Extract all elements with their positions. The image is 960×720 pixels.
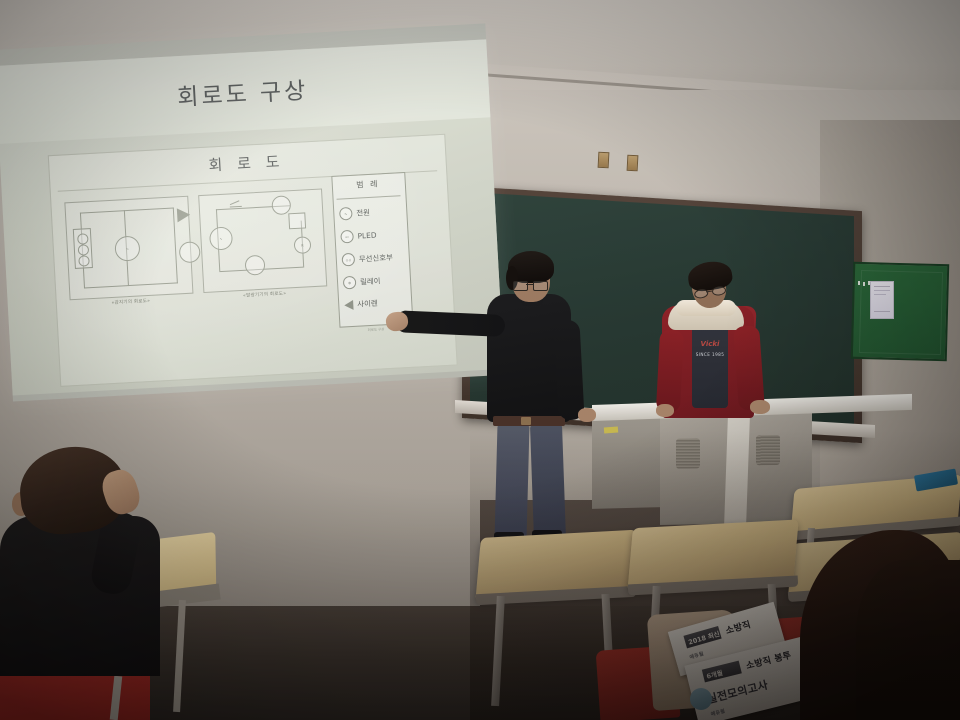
circuit-diagram-right: ∿ R	[198, 188, 327, 293]
wireless-icon: ((·))	[342, 253, 356, 267]
presenter-left-leg-left	[494, 424, 529, 541]
legend-label-wireless: 무선신호부	[359, 252, 394, 265]
presenter-left-leg-right	[530, 423, 566, 540]
legend-label-relay: 릴레이	[360, 275, 381, 287]
legend-label-siren: 사이렌	[357, 298, 378, 310]
booklet-title: 소방직 봉투	[744, 648, 792, 672]
booklet-subtitle: 실전모의고사	[705, 677, 770, 708]
circuit-diagram-left: ∿	[64, 196, 193, 301]
projected-slide: 회로도 구상 회 로 도 ∿ «감지기의 회로도»	[0, 39, 504, 395]
tee-graphic-main: Vicki	[694, 340, 726, 348]
water-bottle	[690, 688, 712, 710]
podium-left-cabinet	[592, 411, 662, 509]
booklet-brand: 에듀윌	[710, 707, 726, 717]
presenter-left-arm-right	[553, 319, 584, 420]
booklet-brand: 에듀윌	[689, 650, 705, 661]
speaker-grille-left	[676, 438, 700, 468]
legend-item-relay: ⊗ 릴레이	[343, 274, 381, 289]
presenter-left-belt-buckle	[521, 417, 531, 425]
board-pins	[858, 281, 870, 285]
plaque-left	[598, 152, 610, 169]
legend-label-pled: PLED	[357, 231, 376, 241]
projection-screen-area: 회로도 구상 회 로 도 ∿ «감지기의 회로도»	[0, 23, 505, 409]
presenter-left-hand-right	[578, 408, 596, 422]
tee-graphic-sub: SINCE 1985	[694, 352, 726, 357]
podium-center-panel	[724, 418, 750, 524]
ac-source-icon: ∿	[339, 207, 353, 221]
legend-label-power: 전원	[356, 207, 370, 219]
legend-item-siren: 사이렌	[344, 298, 378, 311]
speaker-grille-right	[756, 435, 780, 465]
booklet-year: 2018 최신	[687, 628, 721, 647]
legend-item-power: ∿ 전원	[339, 206, 370, 221]
presenter-right-hand-right	[750, 400, 770, 414]
classroom-presentation-photo: 회로도 구상 회 로 도 ∿ «감지기의 회로도»	[0, 0, 960, 720]
booklet-title: 소방직	[724, 617, 752, 637]
siren-icon	[344, 299, 354, 309]
slide-footnote: 회로도 구상	[368, 326, 385, 332]
green-bulletin-board	[851, 262, 950, 361]
student-right-hair-strand	[856, 560, 960, 720]
siren-icon	[177, 208, 191, 223]
glasses-icon	[513, 281, 546, 289]
legend-item-wireless: ((·)) 무선신호부	[342, 251, 394, 267]
board-notice-paper	[870, 281, 894, 319]
relay-icon: ⊗	[343, 276, 357, 290]
pled-icon: ⊷	[340, 230, 354, 244]
presenter-right-arm-left	[656, 329, 684, 412]
podium-sticker	[604, 427, 618, 434]
presenter-right-hand-left	[656, 404, 674, 417]
legend-item-pled: ⊷ PLED	[340, 229, 377, 244]
plaque-right	[627, 155, 639, 172]
